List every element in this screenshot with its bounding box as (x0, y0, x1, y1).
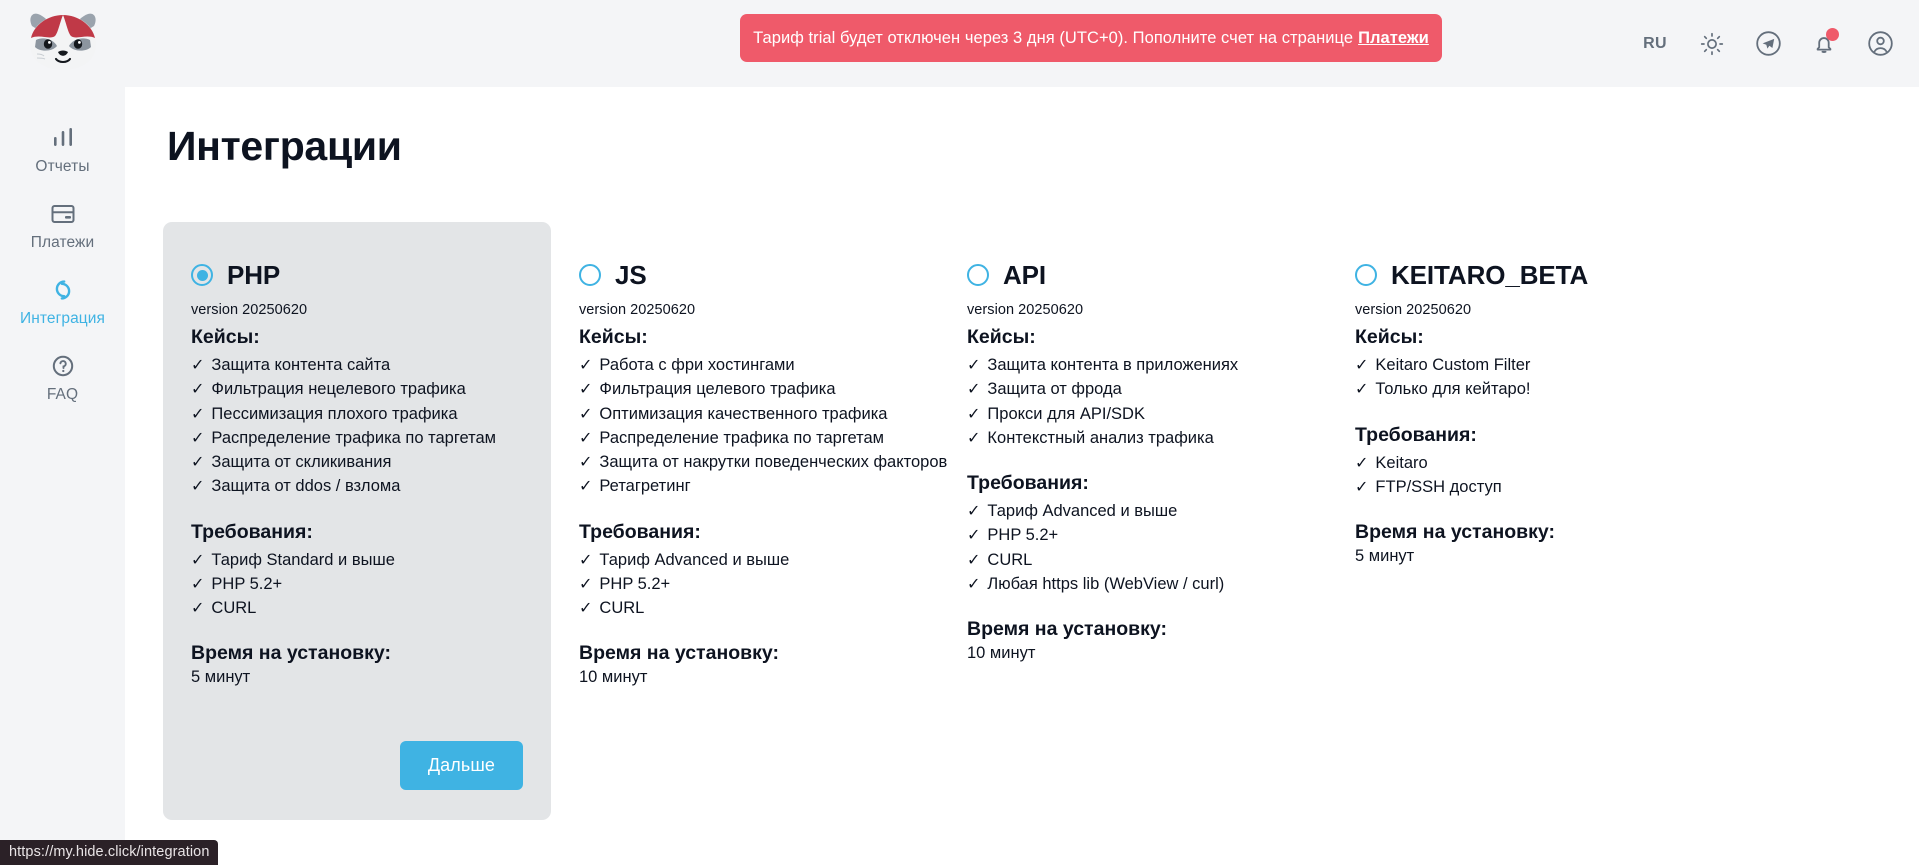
list-item-label: FTP/SSH доступ (1375, 475, 1501, 499)
top-bar: Тариф trial будет отключен через 3 дня (… (125, 0, 1919, 87)
theme-toggle-button[interactable] (1695, 27, 1729, 61)
sidebar-item-integration[interactable]: Интеграция (0, 262, 125, 338)
list-item-label: Оптимизация качественного трафика (599, 402, 887, 426)
check-icon: ✓ (191, 431, 204, 447)
integration-card-keitaro-beta[interactable]: KEITARO_BETA version 20250620 Кейсы: ✓Ke… (1327, 222, 1715, 820)
list-item-label: Защита от накрутки поведенческих факторо… (599, 450, 947, 474)
language-switcher[interactable]: RU (1637, 31, 1673, 57)
list-item-label: Прокси для API/SDK (987, 402, 1145, 426)
list-item: ✓Фильтрация нецелевого трафика (191, 377, 523, 401)
list-item-label: Защита от фрода (987, 377, 1121, 401)
list-item-label: Фильтрация целевого трафика (599, 377, 835, 401)
check-icon: ✓ (967, 358, 980, 374)
radio-button-php[interactable] (191, 264, 213, 286)
list-item: ✓Только для кейтаро! (1355, 377, 1687, 401)
install-time-value: 10 минут (579, 668, 911, 687)
list-item: ✓Ретагретинг (579, 474, 911, 498)
list-item-label: Защита контента сайта (211, 353, 390, 377)
sidebar-item-reports[interactable]: Отчеты (0, 110, 125, 186)
list-item-label: CURL (599, 596, 644, 620)
account-button[interactable] (1863, 27, 1897, 61)
app-root: Отчеты Платежи Интеграция (0, 0, 1919, 865)
list-item-label: Любая https lib (WebView / curl) (987, 572, 1224, 596)
list-item: ✓FTP/SSH доступ (1355, 475, 1687, 499)
check-icon: ✓ (967, 382, 980, 398)
list-item-label: CURL (211, 596, 256, 620)
check-icon: ✓ (191, 479, 204, 495)
list-item-label: Пессимизация плохого трафика (211, 402, 457, 426)
list-item-label: Только для кейтаро! (1375, 377, 1530, 401)
check-icon: ✓ (579, 577, 592, 593)
next-button[interactable]: Дальше (400, 741, 523, 790)
alert-text: Тариф trial будет отключен через 3 дня (… (753, 29, 1353, 48)
list-item-label: Тариф Advanced и выше (987, 499, 1177, 523)
alert-payments-link[interactable]: Платежи (1358, 29, 1429, 48)
telegram-icon (1755, 30, 1782, 57)
requirements-heading: Требования: (967, 472, 1299, 495)
card-title: KEITARO_BETA (1391, 260, 1588, 291)
list-item: ✓Тариф Advanced и выше (579, 548, 911, 572)
card-version: version 20250620 (967, 302, 1299, 318)
list-item: ✓Защита контента в приложениях (967, 353, 1299, 377)
check-icon: ✓ (579, 358, 592, 374)
card-header: JS (579, 258, 911, 292)
user-account-icon (1867, 30, 1894, 57)
card-header: KEITARO_BETA (1355, 258, 1687, 292)
check-icon: ✓ (967, 407, 980, 423)
check-icon: ✓ (191, 455, 204, 471)
list-item: ✓Любая https lib (WebView / curl) (967, 572, 1299, 596)
page-title: Интеграции (167, 123, 1919, 170)
notification-badge (1826, 28, 1839, 41)
credit-card-icon (46, 197, 80, 231)
browser-status-url: https://my.hide.click/integration (0, 840, 218, 865)
list-item: ✓Контекстный анализ трафика (967, 426, 1299, 450)
cases-list: ✓Работа с фри хостингами ✓Фильтрация цел… (579, 353, 911, 499)
list-item-label: Keitaro (1375, 451, 1427, 475)
check-icon: ✓ (967, 528, 980, 544)
check-icon: ✓ (579, 407, 592, 423)
list-item: ✓PHP 5.2+ (579, 572, 911, 596)
check-icon: ✓ (967, 431, 980, 447)
cases-list: ✓Keitaro Custom Filter ✓Только для кейта… (1355, 353, 1687, 402)
list-item: ✓Тариф Standard и выше (191, 548, 523, 572)
check-icon: ✓ (579, 601, 592, 617)
requirements-list: ✓Keitaro ✓FTP/SSH доступ (1355, 451, 1687, 500)
list-item-label: Keitaro Custom Filter (1375, 353, 1530, 377)
list-item: ✓Прокси для API/SDK (967, 402, 1299, 426)
install-time-heading: Время на установку: (967, 618, 1299, 641)
requirements-list: ✓Тариф Standard и выше ✓PHP 5.2+ ✓CURL (191, 548, 523, 621)
main-content: Интеграции PHP version 20250620 Кейсы: ✓… (125, 87, 1919, 865)
sun-theme-icon (1700, 32, 1724, 56)
link-chain-icon (46, 273, 80, 307)
cases-heading: Кейсы: (1355, 326, 1687, 349)
check-icon: ✓ (967, 504, 980, 520)
integration-card-js[interactable]: JS version 20250620 Кейсы: ✓Работа с фри… (551, 222, 939, 820)
telegram-button[interactable] (1751, 27, 1785, 61)
list-item: ✓Keitaro (1355, 451, 1687, 475)
list-item-label: Распределение трафика по таргетам (211, 426, 496, 450)
install-time-heading: Время на установку: (1355, 521, 1687, 544)
integration-card-api[interactable]: API version 20250620 Кейсы: ✓Защита конт… (939, 222, 1327, 820)
check-icon: ✓ (579, 431, 592, 447)
list-item-label: PHP 5.2+ (211, 572, 282, 596)
bar-chart-icon (46, 121, 80, 155)
cases-heading: Кейсы: (967, 326, 1299, 349)
list-item: ✓CURL (579, 596, 911, 620)
list-item: ✓Работа с фри хостингами (579, 353, 911, 377)
list-item-label: PHP 5.2+ (987, 523, 1058, 547)
list-item-label: Распределение трафика по таргетам (599, 426, 884, 450)
card-header: PHP (191, 258, 523, 292)
list-item-label: CURL (987, 548, 1032, 572)
install-time-heading: Время на установку: (579, 642, 911, 665)
list-item: ✓Защита от скликивания (191, 450, 523, 474)
notifications-button[interactable] (1807, 27, 1841, 61)
check-icon: ✓ (1355, 358, 1368, 374)
list-item-label: Тариф Standard и выше (211, 548, 394, 572)
radio-button-api[interactable] (967, 264, 989, 286)
list-item: ✓CURL (191, 596, 523, 620)
check-icon: ✓ (191, 382, 204, 398)
card-version: version 20250620 (191, 302, 523, 318)
topbar-actions: RU (1637, 27, 1897, 61)
requirements-heading: Требования: (579, 521, 911, 544)
list-item: ✓Тариф Advanced и выше (967, 499, 1299, 523)
install-time-value: 5 минут (1355, 547, 1687, 566)
requirements-heading: Требования: (191, 521, 523, 544)
install-time-value: 5 минут (191, 668, 523, 687)
list-item-label: Защита контента в приложениях (987, 353, 1238, 377)
sidebar-item-label: Платежи (31, 235, 95, 251)
list-item: ✓Фильтрация целевого трафика (579, 377, 911, 401)
install-time-heading: Время на установку: (191, 642, 523, 665)
check-icon: ✓ (579, 479, 592, 495)
cases-list: ✓Защита контента в приложениях ✓Защита о… (967, 353, 1299, 450)
check-icon: ✓ (1355, 382, 1368, 398)
sidebar-item-payments[interactable]: Платежи (0, 186, 125, 262)
sidebar: Отчеты Платежи Интеграция (0, 0, 125, 865)
card-version: version 20250620 (579, 302, 911, 318)
sidebar-item-faq[interactable]: FAQ (0, 338, 125, 414)
list-item-label: Фильтрация нецелевого трафика (211, 377, 465, 401)
list-item: ✓Защита от накрутки поведенческих фактор… (579, 450, 911, 474)
install-time-value: 10 минут (967, 644, 1299, 663)
check-icon: ✓ (191, 577, 204, 593)
list-item: ✓PHP 5.2+ (967, 523, 1299, 547)
list-item-label: Защита от ddos / взлома (211, 474, 400, 498)
requirements-list: ✓Тариф Advanced и выше ✓PHP 5.2+ ✓CURL (579, 548, 911, 621)
sidebar-item-label: Интеграция (20, 311, 105, 327)
cases-heading: Кейсы: (579, 326, 911, 349)
requirements-list: ✓Тариф Advanced и выше ✓PHP 5.2+ ✓CURL ✓… (967, 499, 1299, 596)
cases-heading: Кейсы: (191, 326, 523, 349)
card-title: API (1003, 260, 1046, 291)
list-item-label: Защита от скликивания (211, 450, 391, 474)
card-version: version 20250620 (1355, 302, 1687, 318)
list-item: ✓Оптимизация качественного трафика (579, 402, 911, 426)
list-item-label: Контекстный анализ трафика (987, 426, 1213, 450)
list-item: ✓Распределение трафика по таргетам (579, 426, 911, 450)
list-item: ✓CURL (967, 548, 1299, 572)
check-icon: ✓ (967, 577, 980, 593)
check-icon: ✓ (579, 382, 592, 398)
check-icon: ✓ (191, 601, 204, 617)
check-icon: ✓ (191, 553, 204, 569)
list-item: ✓PHP 5.2+ (191, 572, 523, 596)
list-item: ✓Keitaro Custom Filter (1355, 353, 1687, 377)
list-item-label: Тариф Advanced и выше (599, 548, 789, 572)
trial-expiry-alert: Тариф trial будет отключен через 3 дня (… (740, 14, 1442, 62)
sidebar-nav: Отчеты Платежи Интеграция (0, 110, 125, 414)
list-item-label: PHP 5.2+ (599, 572, 670, 596)
sidebar-item-label: Отчеты (35, 159, 89, 175)
check-icon: ✓ (191, 407, 204, 423)
integration-cards: PHP version 20250620 Кейсы: ✓Защита конт… (163, 222, 1715, 820)
check-icon: ✓ (967, 553, 980, 569)
cases-list: ✓Защита контента сайта ✓Фильтрация нецел… (191, 353, 523, 499)
requirements-heading: Требования: (1355, 424, 1687, 447)
question-circle-icon (46, 349, 80, 383)
list-item: ✓Защита от фрода (967, 377, 1299, 401)
card-title: PHP (227, 260, 280, 291)
check-icon: ✓ (579, 455, 592, 471)
check-icon: ✓ (579, 553, 592, 569)
list-item: ✓Защита контента сайта (191, 353, 523, 377)
list-item: ✓Защита от ddos / взлома (191, 474, 523, 498)
list-item-label: Ретагретинг (599, 474, 690, 498)
check-icon: ✓ (1355, 480, 1368, 496)
raccoon-logo[interactable] (26, 10, 100, 72)
sidebar-item-label: FAQ (47, 387, 78, 403)
radio-button-js[interactable] (579, 264, 601, 286)
card-title: JS (615, 260, 647, 291)
check-icon: ✓ (191, 358, 204, 374)
integration-card-php[interactable]: PHP version 20250620 Кейсы: ✓Защита конт… (163, 222, 551, 820)
list-item: ✓Распределение трафика по таргетам (191, 426, 523, 450)
check-icon: ✓ (1355, 456, 1368, 472)
list-item: ✓Пессимизация плохого трафика (191, 402, 523, 426)
list-item-label: Работа с фри хостингами (599, 353, 794, 377)
radio-button-keitaro-beta[interactable] (1355, 264, 1377, 286)
card-header: API (967, 258, 1299, 292)
